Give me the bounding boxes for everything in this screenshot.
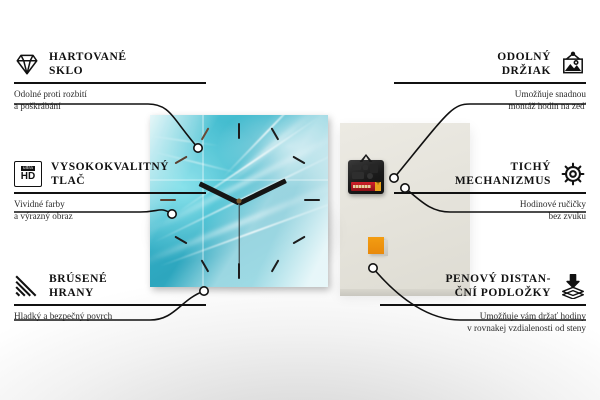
foam-spacer-pad	[368, 237, 384, 254]
callout-subtitle: Hodinové ručičky bez zvuku	[394, 198, 586, 223]
callout-title: VYSOKOKVALITNÝ TLAČ	[51, 160, 169, 188]
callout-polished-edges: BRÚSENÉ HRANY Hladký a bezpečný povrch	[14, 272, 206, 322]
callout-subtitle: Vividné farby a výrazný obraz	[14, 198, 206, 223]
callout-header: HARTOVANÉ SKLO	[14, 50, 206, 78]
callout-header: ultra HD VYSOKOKVALITNÝ TLAČ	[14, 160, 206, 188]
callout-silent-mechanism: TICHÝ MECHANIZMUS Hodinové ručičky bez z…	[394, 160, 586, 223]
mechanism-dial	[367, 173, 373, 179]
callout-header: PENOVÝ DISTAN- ČNÍ PODLOŽKY	[380, 272, 586, 300]
callout-foam-spacers: PENOVÝ DISTAN- ČNÍ PODLOŽKY Umožňuje vám…	[380, 272, 586, 335]
clock-center-pin	[237, 199, 242, 204]
clock-tick	[304, 199, 320, 201]
callout-divider	[14, 192, 206, 194]
clock-mechanism	[348, 160, 384, 194]
clock-tick	[238, 263, 240, 279]
picture-frame-icon	[560, 51, 586, 77]
aa-battery	[351, 182, 381, 191]
callout-subtitle: Umožňuje vám držať hodiny v rovnakej vzd…	[380, 310, 586, 335]
callout-divider	[380, 304, 586, 306]
callout-title: PENOVÝ DISTAN- ČNÍ PODLOŽKY	[445, 272, 551, 300]
mechanism-detail	[363, 165, 368, 170]
hatched-triangle-icon	[14, 273, 40, 299]
clock-tick	[238, 123, 240, 139]
callout-divider	[14, 82, 206, 84]
callout-durable-hanger: ODOLNÝ DRŽIAK Umožňuje snadnou montáž ho…	[394, 50, 586, 113]
mechanism-detail	[352, 165, 361, 170]
callout-tempered-glass: HARTOVANÉ SKLO Odolné proti rozbití a po…	[14, 50, 206, 113]
diamond-icon	[14, 51, 40, 77]
clock-second-hand	[238, 202, 239, 264]
callout-divider	[394, 82, 586, 84]
stacked-layers-down-arrow-icon	[560, 273, 586, 299]
callout-title: BRÚSENÉ HRANY	[49, 272, 107, 300]
battery-label	[353, 185, 371, 188]
mechanism-detail	[370, 164, 378, 173]
callout-subtitle: Hladký a bezpečný povrch	[14, 310, 206, 323]
callout-title: TICHÝ MECHANIZMUS	[455, 160, 551, 188]
callout-title: HARTOVANÉ SKLO	[49, 50, 127, 78]
callout-header: BRÚSENÉ HRANY	[14, 272, 206, 300]
callout-header: TICHÝ MECHANIZMUS	[394, 160, 586, 188]
product-infographic: HARTOVANÉ SKLO Odolné proti rozbití a po…	[0, 0, 600, 400]
gear-icon	[560, 161, 586, 187]
ultra-hd-icon: ultra HD	[14, 161, 42, 187]
callout-subtitle: Odolné proti rozbití a poškrábání	[14, 88, 206, 113]
callout-subtitle: Umožňuje snadnou montáž hodin na zeď	[394, 88, 586, 113]
battery-positive-cap	[375, 182, 381, 191]
callout-divider	[394, 192, 586, 194]
callout-high-quality-print: ultra HD VYSOKOKVALITNÝ TLAČ Vividné far…	[14, 160, 206, 223]
callout-header: ODOLNÝ DRŽIAK	[394, 50, 586, 78]
callout-divider	[14, 304, 206, 306]
mechanism-detail	[352, 172, 364, 179]
callout-title: ODOLNÝ DRŽIAK	[497, 50, 551, 78]
